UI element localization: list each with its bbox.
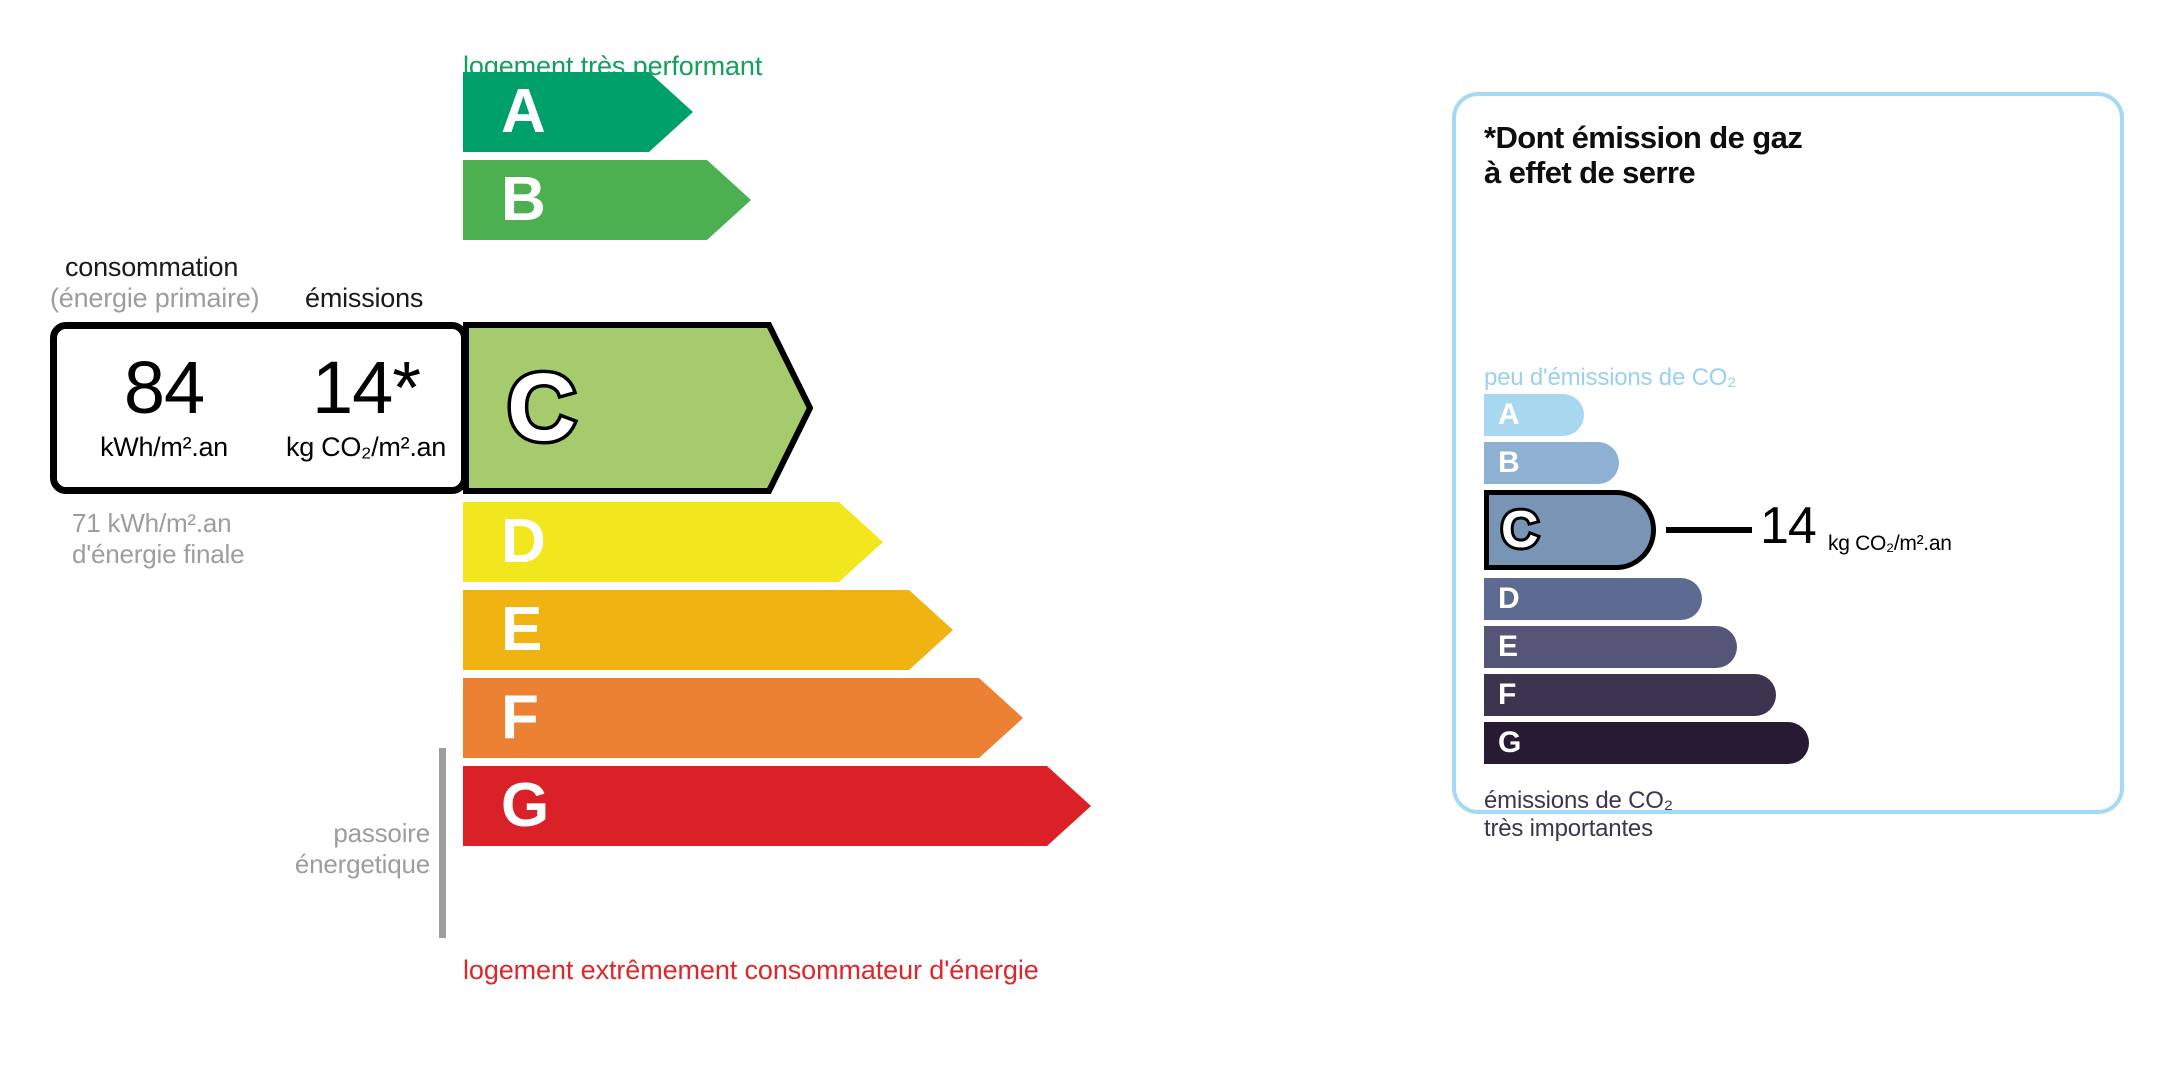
energy-class-arrow-e: E (463, 590, 953, 670)
co2-class-bar-f: F (1484, 674, 1776, 716)
energy-class-arrow-f: F (463, 678, 1023, 758)
co2-annotation-unit: kg CO₂/m².an (1828, 532, 1952, 556)
energy-class-letter-g: G (501, 775, 549, 837)
co2-class-letter-g: G (1498, 728, 1521, 758)
co2-class-bar-d: D (1484, 578, 1702, 620)
co2-class-bar-e: E (1484, 626, 1737, 668)
co2-class-letter-d: D (1498, 584, 1520, 614)
co2-bar-shape-a: A (1484, 394, 1584, 436)
co2-class-letter-f: F (1498, 680, 1516, 710)
co2-class-bar-c: C (1484, 490, 1656, 570)
energy-class-letter-e: E (501, 599, 542, 661)
co2-bar-shape-f: F (1484, 674, 1776, 716)
co2-class-letter-c: C (1501, 504, 1539, 556)
co2-annotation-value: 14 (1760, 500, 1816, 552)
emission-value: 14* (312, 353, 420, 423)
current-values-box: 84 kWh/m².an 14* kg CO₂/m².an (50, 322, 468, 494)
energy-class-arrow-g: G (463, 766, 1091, 846)
final-energy-note: 71 kWh/m².and'énergie finale (72, 508, 244, 569)
co2-class-letter-b: B (1498, 448, 1520, 478)
co2-bar-shape-c: C (1484, 490, 1656, 570)
co2-class-bar-b: B (1484, 442, 1619, 484)
energy-class-arrow-b: B (463, 160, 751, 240)
energy-class-arrow-c: C (463, 322, 813, 494)
energy-class-letter-c: C (507, 360, 576, 456)
consumption-value: 84 (124, 353, 204, 423)
passoire-bracket (439, 748, 446, 938)
co2-class-bar-a: A (1484, 394, 1584, 436)
co2-panel-title: *Dont émission de gazà effet de serre (1484, 121, 1802, 190)
passoire-label: passoireénergetique (240, 818, 430, 879)
label-energie-primaire: (énergie primaire) (50, 283, 259, 314)
co2-bar-shape-g: G (1484, 722, 1809, 764)
emission-unit: kg CO₂/m².an (286, 432, 446, 463)
co2-class-bar-g: G (1484, 722, 1809, 764)
label-emissions: émissions (305, 283, 423, 314)
co2-leader-line (1666, 527, 1752, 533)
co2-bar-shape-e: E (1484, 626, 1737, 668)
energy-class-arrow-d: D (463, 502, 883, 582)
energy-class-arrow-a: A (463, 72, 693, 152)
energy-class-letter-f: F (501, 687, 539, 749)
co2-bottom-caption: émissions de CO₂très importantes (1484, 787, 1673, 843)
arrow-shape-g (463, 766, 1091, 846)
label-consommation: consommation (65, 252, 238, 283)
co2-emissions-panel: *Dont émission de gazà effet de serre pe… (1452, 92, 2124, 814)
co2-bar-shape-d: D (1484, 578, 1702, 620)
co2-bar-shape-b: B (1484, 442, 1619, 484)
emission-cell: 14* kg CO₂/m².an (271, 329, 461, 487)
co2-class-letter-a: A (1498, 400, 1520, 430)
arrow-shape-f (463, 678, 1023, 758)
arrow-shape-a (463, 72, 693, 152)
energy-class-letter-d: D (501, 511, 546, 573)
consumption-cell: 84 kWh/m².an (57, 329, 271, 487)
consumption-unit: kWh/m².an (100, 432, 228, 463)
co2-top-caption: peu d'émissions de CO₂ (1484, 364, 1736, 392)
co2-class-letter-e: E (1498, 632, 1518, 662)
energy-performance-scale: logement très performant ABCDEFG consomm… (0, 0, 1330, 1079)
energy-class-letter-a: A (501, 81, 546, 143)
energy-class-letter-b: B (501, 169, 546, 231)
scale-bottom-caption: logement extrêmement consommateur d'éner… (463, 955, 1039, 986)
